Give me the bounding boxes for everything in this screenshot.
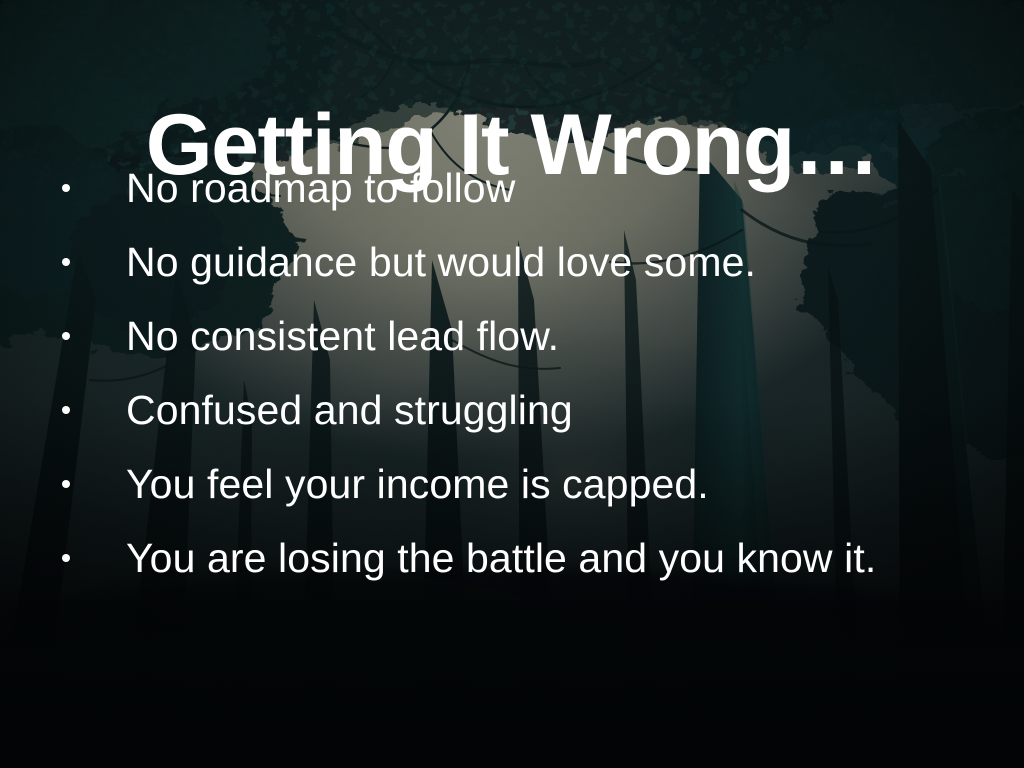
bullet-item-3: No consistent lead flow. <box>52 308 952 364</box>
bullet-text: No consistent lead flow. <box>126 308 952 364</box>
bullet-item-4: Confused and struggling <box>52 382 952 438</box>
bullet-list: No roadmap to follow No guidance but wou… <box>52 160 952 604</box>
bullet-text: You feel your income is capped. <box>126 456 952 512</box>
presentation-slide: Getting It Wrong… No roadmap to follow N… <box>0 0 1024 768</box>
bullet-item-1: No roadmap to follow <box>52 160 952 216</box>
bullet-dot-icon <box>62 258 70 266</box>
bullet-item-2: No guidance but would love some. <box>52 234 952 290</box>
bullet-text: You are losing the battle and you know i… <box>126 530 952 586</box>
bullet-dot-icon <box>62 554 70 562</box>
bullet-text: No guidance but would love some. <box>126 234 952 290</box>
bullet-dot-icon <box>62 184 70 192</box>
bullet-text: Confused and struggling <box>126 382 952 438</box>
bullet-dot-icon <box>62 406 70 414</box>
bullet-dot-icon <box>62 480 70 488</box>
bullet-item-6: You are losing the battle and you know i… <box>52 530 952 586</box>
bullet-item-5: You feel your income is capped. <box>52 456 952 512</box>
slide-content: Getting It Wrong… No roadmap to follow N… <box>0 0 1024 768</box>
bullet-dot-icon <box>62 332 70 340</box>
bullet-text: No roadmap to follow <box>126 160 952 216</box>
